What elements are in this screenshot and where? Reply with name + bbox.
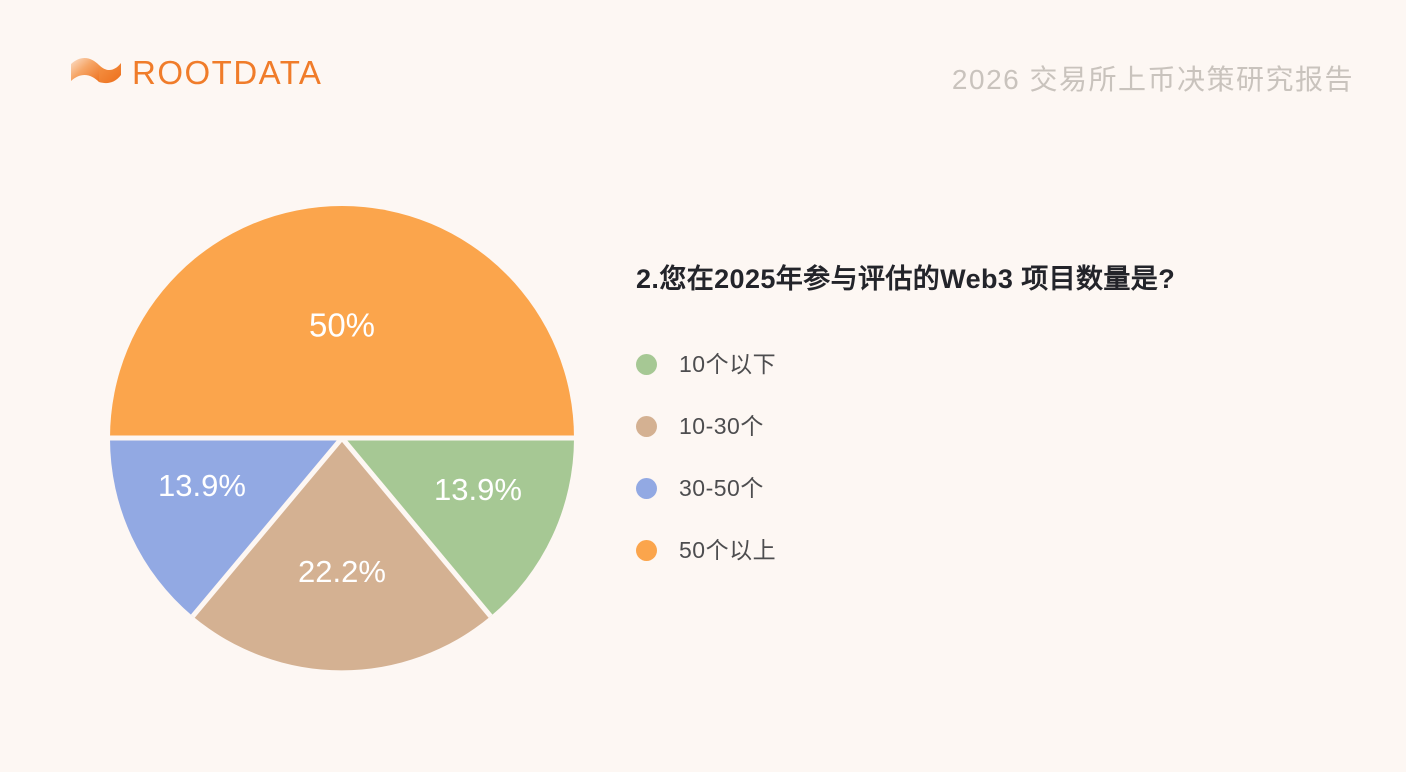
legend-label: 10个以下 bbox=[679, 353, 776, 376]
pie-label-green: 13.9% bbox=[434, 472, 522, 507]
chart-legend: 10个以下 10-30个 30-50个 50个以上 bbox=[636, 333, 1366, 581]
pie-label-blue: 13.9% bbox=[158, 468, 246, 503]
legend-item-0[interactable]: 10个以下 bbox=[636, 333, 1366, 395]
slide-header: ROOTDATA 2026 交易所上币决策研究报告 bbox=[0, 0, 1406, 140]
brand-logo: ROOTDATA bbox=[68, 52, 322, 92]
question-title: 2.您在2025年参与评估的Web3 项目数量是? bbox=[636, 262, 1366, 297]
ribbon-logo-icon bbox=[68, 52, 124, 92]
legend-dot-icon bbox=[636, 478, 657, 499]
brand-name: ROOTDATA bbox=[132, 56, 322, 89]
report-title: 2026 交易所上币决策研究报告 bbox=[952, 58, 1354, 98]
pie-label-50: 50% bbox=[309, 307, 375, 344]
legend-label: 30-50个 bbox=[679, 477, 764, 500]
pie-chart: 50% 13.9% 22.2% 13.9% bbox=[100, 196, 584, 680]
pie-chart-svg: 50% 13.9% 22.2% 13.9% bbox=[100, 196, 584, 680]
pie-label-tan: 22.2% bbox=[298, 554, 386, 589]
legend-item-2[interactable]: 30-50个 bbox=[636, 457, 1366, 519]
legend-label: 50个以上 bbox=[679, 539, 776, 562]
legend-item-1[interactable]: 10-30个 bbox=[636, 395, 1366, 457]
legend-dot-icon bbox=[636, 416, 657, 437]
legend-label: 10-30个 bbox=[679, 415, 764, 438]
legend-dot-icon bbox=[636, 354, 657, 375]
question-panel: 2.您在2025年参与评估的Web3 项目数量是? 10个以下 10-30个 3… bbox=[636, 262, 1366, 581]
legend-dot-icon bbox=[636, 540, 657, 561]
legend-item-3[interactable]: 50个以上 bbox=[636, 519, 1366, 581]
